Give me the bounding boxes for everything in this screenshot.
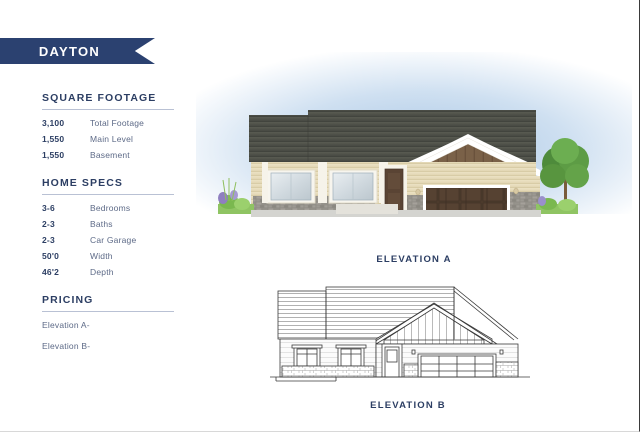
spec-sheet-page: DAYTON SQUARE FOOTAGE 3,100 Total Footag… — [0, 0, 640, 432]
garage-door — [423, 185, 510, 214]
spec-value: 50'0 — [42, 251, 90, 261]
pricing-section: PRICING Elevation A- Elevation B- — [42, 294, 180, 351]
wall-sconce — [416, 189, 420, 195]
elevation-a-svg — [196, 52, 632, 240]
spec-row: 3,100 Total Footage — [42, 118, 180, 128]
window-center — [329, 170, 377, 203]
front-walk — [336, 204, 398, 214]
spec-row: 2-3 Car Garage — [42, 235, 180, 245]
elevation-a-rendering — [196, 52, 632, 240]
plan-name-label: DAYTON — [39, 44, 116, 59]
square-footage-section: SQUARE FOOTAGE 3,100 Total Footage 1,550… — [42, 92, 180, 160]
spec-label: Depth — [90, 267, 114, 277]
home-specs-divider — [42, 194, 174, 195]
spec-label: Baths — [90, 219, 113, 229]
spec-label: Car Garage — [90, 235, 136, 245]
spec-value: 46'2 — [42, 267, 90, 277]
spec-value: 3,100 — [42, 118, 90, 128]
elevation-b-svg — [258, 278, 558, 390]
spec-label: Basement — [90, 150, 130, 160]
square-footage-title: SQUARE FOOTAGE — [42, 92, 180, 104]
home-specs-section: HOME SPECS 3-6 Bedrooms 2-3 Baths 2-3 Ca… — [42, 177, 180, 277]
elevation-b-drawing — [258, 278, 558, 390]
plan-name-ribbon: DAYTON — [0, 38, 155, 64]
spec-label: Main Level — [90, 134, 133, 144]
spec-label: Bedrooms — [90, 203, 130, 213]
spec-row: 1,550 Main Level — [42, 134, 180, 144]
pricing-title: PRICING — [42, 294, 180, 306]
spec-value: 2-3 — [42, 235, 90, 245]
spec-value: 1,550 — [42, 134, 90, 144]
wall-sconce — [514, 188, 518, 194]
spec-label: Width — [90, 251, 113, 261]
spec-value: 2-3 — [42, 219, 90, 229]
spec-column: SQUARE FOOTAGE 3,100 Total Footage 1,550… — [42, 92, 180, 368]
pricing-divider — [42, 311, 174, 312]
spec-row: 50'0 Width — [42, 251, 180, 261]
spec-row: 3-6 Bedrooms — [42, 203, 180, 213]
spec-row: 2-3 Baths — [42, 219, 180, 229]
spec-value: 1,550 — [42, 150, 90, 160]
spec-value: 3-6 — [42, 203, 90, 213]
square-footage-divider — [42, 109, 174, 110]
elevation-b-caption: ELEVATION B — [258, 400, 558, 411]
pricing-row-elevation-a: Elevation A- — [42, 320, 180, 330]
spec-label: Total Footage — [90, 118, 144, 128]
home-specs-title: HOME SPECS — [42, 177, 180, 189]
pricing-row-elevation-b: Elevation B- — [42, 341, 180, 351]
porch-column — [262, 162, 268, 203]
spec-row: 46'2 Depth — [42, 267, 180, 277]
porch-column — [318, 162, 327, 203]
elevation-a-caption: ELEVATION A — [196, 254, 632, 265]
spec-row: 1,550 Basement — [42, 150, 180, 160]
window-left — [267, 170, 315, 203]
